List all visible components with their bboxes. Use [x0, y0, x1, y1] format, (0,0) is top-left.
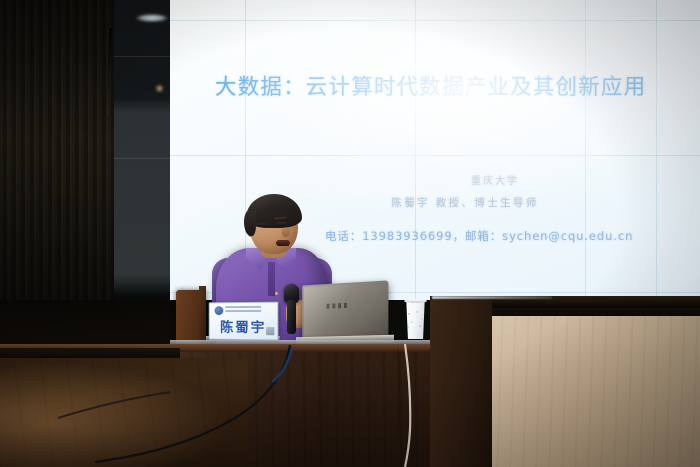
paper-cup-rim	[404, 299, 427, 303]
microphone-handle	[287, 300, 296, 334]
podium-rim-highlight	[432, 296, 552, 299]
slide-organization: 重庆大学	[290, 172, 700, 187]
university-wordmark	[225, 306, 261, 314]
screen-seam-h1	[170, 20, 700, 21]
spot-reflection	[155, 84, 164, 93]
panel-seam-lower	[114, 158, 176, 159]
slide-title: 大数据：云计算时代数据产业及其创新应用	[215, 70, 685, 101]
ceiling-light-reflection	[136, 14, 168, 22]
laptop-brand-logo	[327, 303, 348, 309]
screen-seam-v3	[585, 0, 586, 300]
screen-seam-h2	[170, 155, 700, 156]
mouth	[276, 240, 290, 246]
podium-right-side	[430, 300, 492, 467]
paper-cup-dots	[406, 310, 425, 330]
laptop-lid	[302, 280, 388, 339]
eye-left	[258, 223, 267, 227]
university-emblem-icon	[215, 306, 224, 315]
screen-seam-v4	[656, 0, 657, 300]
shirt-placket	[268, 262, 275, 296]
screen-seam-v2	[415, 0, 416, 300]
nose	[282, 227, 290, 237]
wooden-floor	[0, 358, 248, 467]
photo-scene: 大数据：云计算时代数据产业及其创新应用 重庆大学 陈蜀宇 教授、博士生导师 电话…	[0, 0, 700, 467]
nameplate-corner-tab	[266, 327, 274, 335]
nameplate: 陈蜀宇	[209, 302, 279, 341]
eye-right	[276, 222, 287, 226]
panel-seam-upper	[114, 56, 176, 57]
hair-sideburn	[244, 210, 256, 236]
shirt-button	[275, 292, 278, 295]
slide-contact: 电话：13983936699，邮箱：sychen@cqu.edu.cn	[325, 228, 633, 244]
